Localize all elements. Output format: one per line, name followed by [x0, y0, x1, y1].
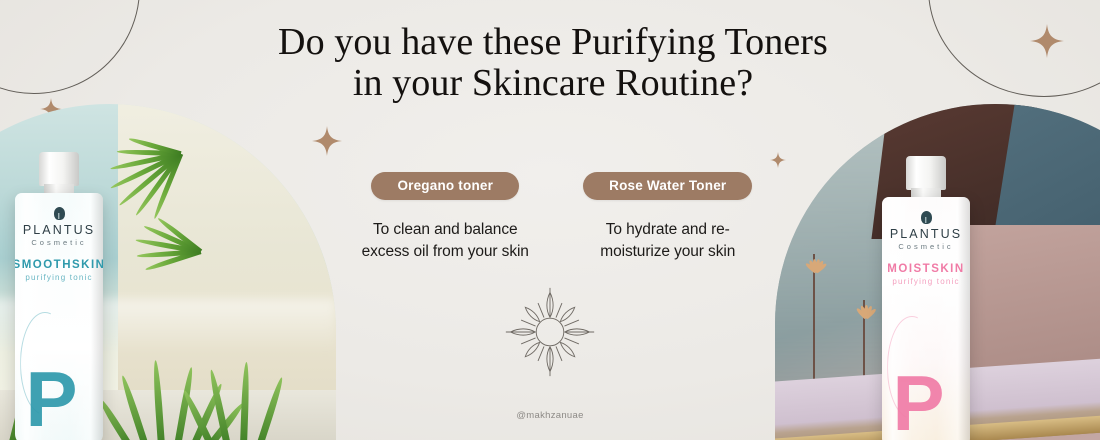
dried-flower [799, 254, 829, 384]
bottle-cap [906, 156, 946, 190]
product-name: SMOOTHSKIN [15, 259, 103, 271]
bottle-cap [39, 152, 79, 186]
product-bottle-smoothskin: PLANTUS Cosmetic SMOOTHSKIN purifying to… [0, 152, 118, 440]
scene-boudoir: PLANTUS Cosmetic MOISTSKIN purifying ton… [775, 104, 1100, 440]
bottle-body: PLANTUS Cosmetic SMOOTHSKIN purifying to… [15, 193, 103, 440]
monogram-letter: P [893, 373, 945, 434]
status-badge[interactable]: Rose Water Toner [583, 172, 752, 200]
brand-logo-icon [54, 207, 65, 220]
product-name: MOISTSKIN [887, 263, 964, 275]
sun-ornament-icon [504, 286, 596, 383]
scene-tropical: PLANTUS Cosmetic SMOOTHSKIN purifying to… [0, 104, 336, 440]
product-subtitle: purifying tonic [25, 273, 92, 282]
feature-columns: Oregano toner To clean and balance exces… [334, 172, 779, 263]
product-subtitle: purifying tonic [892, 277, 959, 286]
product-bottle-moistskin: PLANTUS Cosmetic MOISTSKIN purifying ton… [867, 156, 985, 440]
brand-name: PLANTUS [23, 223, 95, 237]
feature-description: To hydrate and re-moisturize your skin [580, 219, 755, 263]
headline-line-2: in your Skincare Routine? [161, 63, 945, 104]
bottle-body: PLANTUS Cosmetic MOISTSKIN purifying ton… [882, 197, 970, 440]
status-badge[interactable]: Oregano toner [371, 172, 519, 200]
page-title: Do you have these Purifying Toners in yo… [161, 22, 945, 104]
brand-subtitle: Cosmetic [31, 238, 86, 247]
watermark: @makhzanuae [0, 410, 1100, 421]
feature-column-rose-water: Rose Water Toner To hydrate and re-moist… [557, 172, 780, 263]
feature-description: To clean and balance excess oil from you… [358, 219, 533, 263]
feature-column-oregano: Oregano toner To clean and balance exces… [334, 172, 557, 263]
brand-logo-icon [921, 211, 932, 224]
brand-name: PLANTUS [890, 227, 962, 241]
brand-subtitle: Cosmetic [898, 242, 953, 251]
headline-line-1: Do you have these Purifying Toners [278, 21, 828, 63]
promo-banner: PLANTUS Cosmetic SMOOTHSKIN purifying to… [0, 0, 1100, 440]
